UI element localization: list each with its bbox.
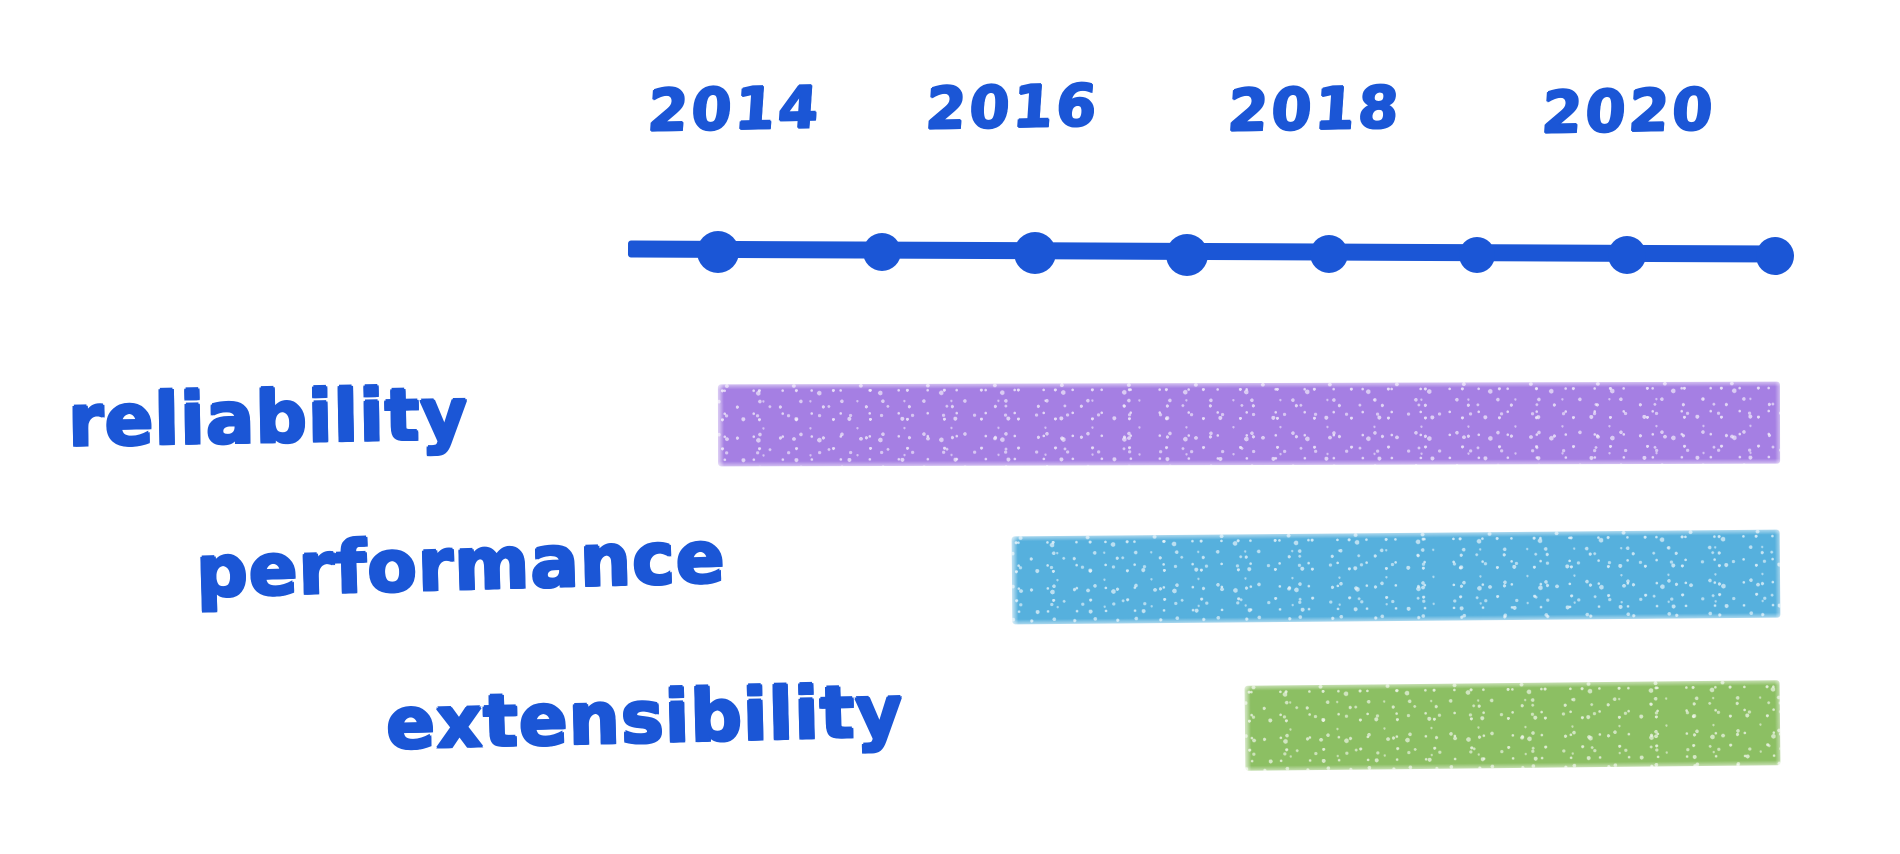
timeline-dot-5[interactable] xyxy=(1310,235,1348,273)
year-label-2018: 2018 xyxy=(1226,78,1404,140)
row-label-performance: performance xyxy=(195,521,726,608)
timeline-chart: 2014 2016 2018 2020 reliability performa… xyxy=(0,0,1900,854)
bar-extensibility[interactable] xyxy=(1245,680,1781,771)
timeline-dot-8[interactable] xyxy=(1756,237,1794,275)
timeline-dot-1[interactable] xyxy=(697,231,739,273)
bar-extensibility-fill xyxy=(1245,680,1781,771)
timeline-dot-4[interactable] xyxy=(1166,234,1208,276)
year-label-2014: 2014 xyxy=(646,78,824,140)
row-label-extensibility: extensibility xyxy=(385,675,904,760)
timeline-dot-7[interactable] xyxy=(1608,236,1646,274)
year-label-2016: 2016 xyxy=(924,76,1102,138)
timeline-dot-6[interactable] xyxy=(1459,237,1495,273)
row-label-reliability: reliability xyxy=(67,378,468,457)
bar-reliability-fill xyxy=(718,382,1780,467)
bar-performance[interactable] xyxy=(1012,530,1781,625)
timeline-dot-2[interactable] xyxy=(863,233,901,271)
bar-reliability[interactable] xyxy=(718,382,1780,467)
bar-performance-fill xyxy=(1012,530,1781,625)
year-label-2020: 2020 xyxy=(1540,80,1718,142)
timeline-dot-3[interactable] xyxy=(1014,232,1056,274)
